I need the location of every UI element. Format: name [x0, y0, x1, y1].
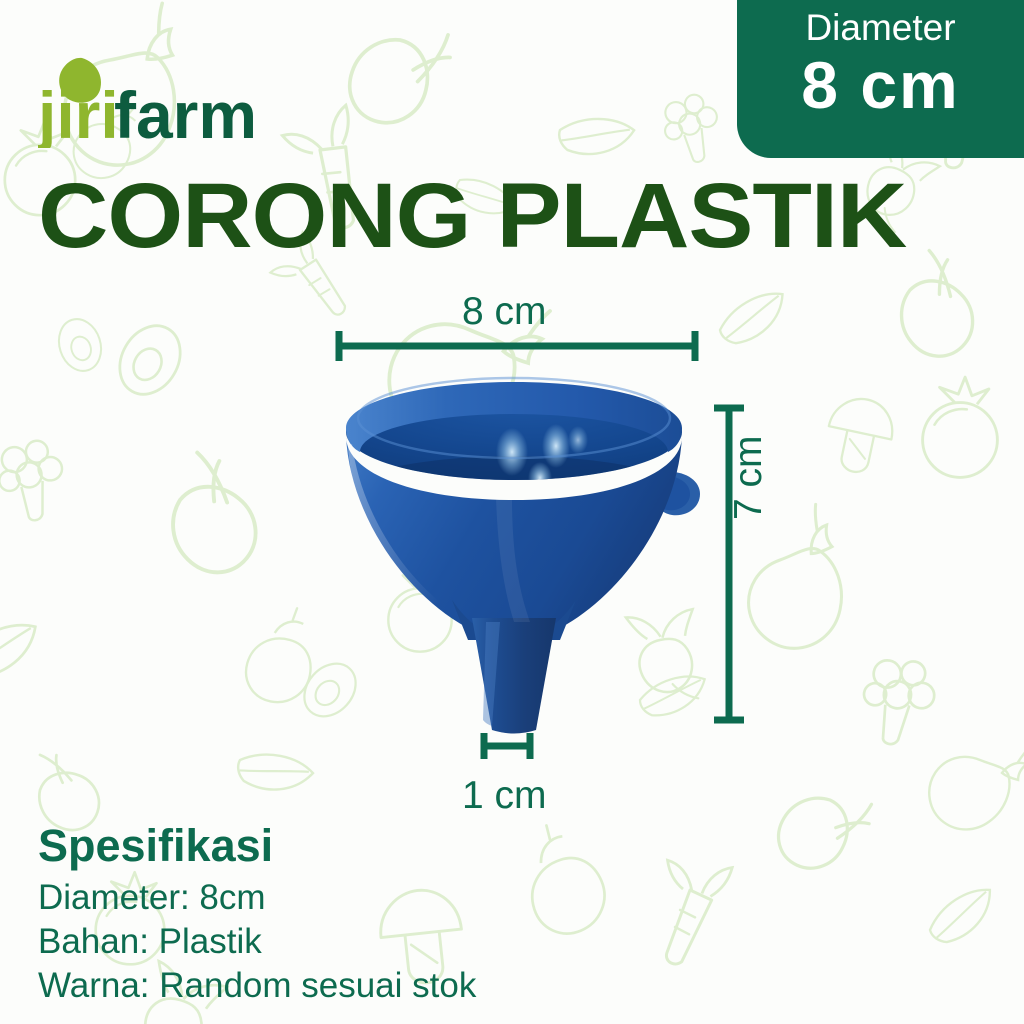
badge-label: Diameter: [805, 6, 955, 50]
bowl-highlight-4: [568, 426, 588, 454]
specification-title: Spesifikasi: [38, 818, 476, 874]
logo-text-farm: farm: [114, 78, 257, 148]
specification-line-diameter: Diameter: 8cm: [38, 876, 476, 920]
page-title: CORONG PLASTIK: [38, 168, 992, 264]
dimension-label-right: 7 cm: [727, 435, 771, 520]
brand-logo[interactable]: jiri farm: [38, 52, 258, 148]
dimension-label-top: 8 cm: [462, 290, 547, 334]
dimension-line-bottom: [484, 733, 530, 759]
diameter-badge: Diameter 8 cm: [737, 0, 1024, 158]
specification-line-material: Bahan: Plastik: [38, 920, 476, 964]
bowl-highlight-1: [496, 428, 528, 476]
dimension-line-top: [339, 331, 695, 361]
bowl-highlight-2: [542, 424, 570, 468]
badge-value: 8 cm: [801, 48, 959, 122]
specification-block: Spesifikasi Diameter: 8cm Bahan: Plastik…: [38, 818, 476, 1008]
dimension-label-bottom: 1 cm: [462, 774, 547, 818]
plastic-funnel-illustration: [334, 378, 700, 734]
logo-text-jiri: jiri: [38, 78, 119, 148]
specification-line-color: Warna: Random sesuai stok: [38, 964, 476, 1008]
bowl-highlight-3: [528, 462, 552, 494]
product-poster: jiri farm Diameter 8 cm CORONG PLASTIK: [0, 0, 1024, 1024]
